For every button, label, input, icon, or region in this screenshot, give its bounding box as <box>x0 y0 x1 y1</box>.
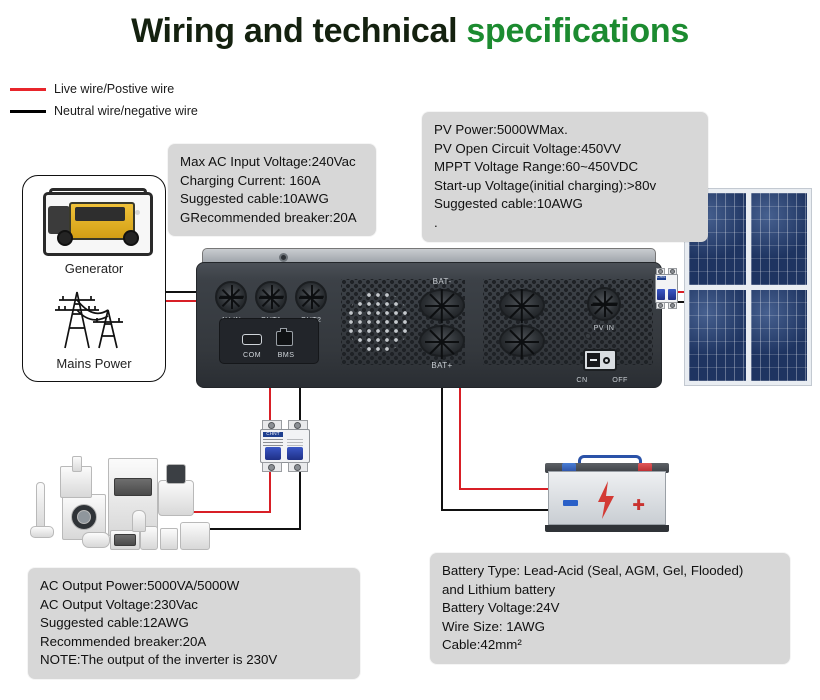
wire-bat-neg-down <box>441 380 443 511</box>
pv-line-1: PV Power:5000WMax. <box>434 121 697 140</box>
power-source-panel: Generator Mains Power <box>22 175 166 382</box>
pv-line-6: . <box>434 214 697 233</box>
generator-icon <box>39 186 151 258</box>
wire-bat-pos-down <box>459 380 461 490</box>
pv-breaker[interactable]: CHNT <box>655 268 679 310</box>
wire-load-neutral-down <box>299 468 301 530</box>
port-pv-in[interactable] <box>587 287 621 321</box>
mains-power-icon <box>43 276 147 352</box>
battery-line-2: and Lithium battery <box>442 581 779 600</box>
legend-label-live: Live wire/Postive wire <box>54 82 174 96</box>
ac-input-line-4: GRecommended breaker:20A <box>180 209 365 228</box>
label-bms: BMS <box>268 350 304 359</box>
mains-power-label: Mains Power <box>23 356 165 371</box>
legend-live: Live wire/Postive wire <box>10 80 174 98</box>
io-plate: COM BMS <box>219 318 319 364</box>
port-com[interactable] <box>242 334 262 345</box>
label-pv-in: PV IN <box>579 323 629 332</box>
ac-output-line-3: Suggested cable:12AWG <box>40 614 349 633</box>
title-part-dark: Wiring and technical <box>131 12 466 50</box>
port-ac-in[interactable] <box>215 281 247 313</box>
solar-cell <box>689 290 746 382</box>
pylon-svg <box>43 276 147 352</box>
ac-input-spec-box: Max AC Input Voltage:240Vac Charging Cur… <box>168 144 376 236</box>
title-part-green: specifications <box>466 12 689 50</box>
wire-load-live-down <box>269 468 271 513</box>
label-bat-neg: BAT- <box>419 277 465 286</box>
ac-output-line-2: AC Output Voltage:230Vac <box>40 596 349 615</box>
pv-spec-box: PV Power:5000WMax. PV Open Circuit Volta… <box>422 112 708 242</box>
ac-output-line-5: NOTE:The output of the inverter is 230V <box>40 651 349 670</box>
legend-label-neutral: Neutral wire/negative wire <box>54 104 198 118</box>
battery-line-1: Battery Type: Lead-Acid (Seal, AGM, Gel,… <box>442 562 779 581</box>
legend-neutral: Neutral wire/negative wire <box>10 102 198 120</box>
generator-label: Generator <box>23 261 165 276</box>
wire-bat-neg-right <box>441 509 558 511</box>
inverter-rear-panel: AV IN OUT1 OUT2 COM BMS BAT- <box>196 262 662 388</box>
ac-output-line-1: AC Output Power:5000VA/5000W <box>40 577 349 596</box>
pv-line-4: Start-up Voltage(initial charging):>80v <box>434 177 697 196</box>
battery-case: ✚ <box>548 471 666 525</box>
battery-line-3: Battery Voltage:24V <box>442 599 779 618</box>
battery-bolt-icon <box>593 480 619 520</box>
ac-output-breaker[interactable]: CHNT <box>256 420 314 472</box>
fan-grill-icon <box>347 291 409 353</box>
power-switch[interactable] <box>583 349 617 371</box>
battery-spec-box: Battery Type: Lead-Acid (Seal, AGM, Gel,… <box>430 553 790 664</box>
port-out2[interactable] <box>295 281 327 313</box>
pv-line-5: Suggested cable:10AWG <box>434 195 697 214</box>
inverter-unit[interactable]: AV IN OUT1 OUT2 COM BMS BAT- <box>196 248 662 388</box>
ac-input-line-2: Charging Current: 160A <box>180 172 365 191</box>
solar-cell <box>751 290 808 382</box>
ac-input-line-3: Suggested cable:10AWG <box>180 190 365 209</box>
wire-bat-pos-right <box>459 488 558 490</box>
port-bms[interactable] <box>276 331 293 346</box>
label-switch-off: OFF <box>607 375 633 384</box>
port-out1[interactable] <box>255 281 287 313</box>
battery-line-4: Wire Size: 1AWG <box>442 618 779 637</box>
ac-output-spec-box: AC Output Power:5000VA/5000W AC Output V… <box>28 568 360 679</box>
diagram-canvas: Wiring and technical specifications Live… <box>0 0 820 700</box>
inverter-screw-icon <box>279 253 288 262</box>
page-title: Wiring and technical specifications <box>0 12 820 51</box>
label-bat-pos: BAT+ <box>419 361 465 370</box>
port-bat-pos-2[interactable] <box>499 325 545 357</box>
port-bat-pos[interactable] <box>419 325 465 357</box>
legend-swatch-live-icon <box>10 88 46 91</box>
pv-line-2: PV Open Circuit Voltage:450VV <box>434 140 697 159</box>
battery-unit: ✚ <box>548 455 666 533</box>
solar-cell <box>751 193 808 285</box>
legend-swatch-neutral-icon <box>10 110 46 113</box>
ac-input-line-1: Max AC Input Voltage:240Vac <box>180 153 365 172</box>
breaker-brand: CHNT <box>263 432 283 437</box>
battery-line-5: Cable:42mm² <box>442 636 779 655</box>
ac-output-line-4: Recommended breaker:20A <box>40 633 349 652</box>
household-appliances-icon <box>22 440 218 552</box>
battery-plus-marking: ✚ <box>632 498 645 513</box>
pv-breaker-brand: CHNT <box>657 276 666 280</box>
port-bat-neg-2[interactable] <box>499 289 545 321</box>
label-com: COM <box>234 350 270 359</box>
label-switch-on: CN <box>569 375 595 384</box>
pv-line-3: MPPT Voltage Range:60~450VDC <box>434 158 697 177</box>
port-bat-neg[interactable] <box>419 289 465 321</box>
battery-minus-marking <box>563 500 578 506</box>
battery-base <box>545 525 669 532</box>
